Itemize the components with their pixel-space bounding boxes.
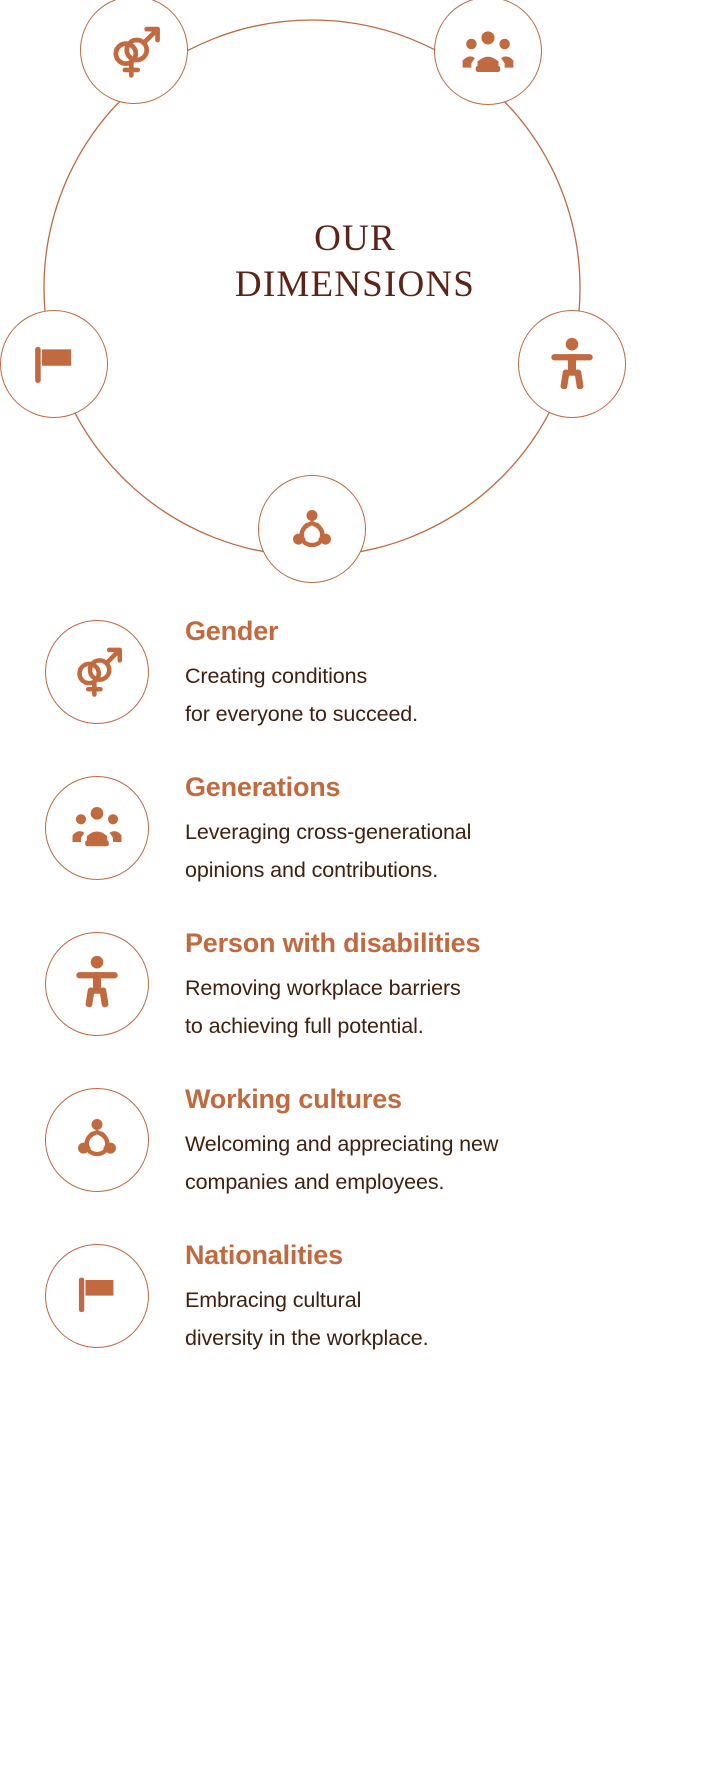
list-item-title: Person with disabilities: [185, 926, 480, 960]
list-item-icon-badge: [45, 932, 149, 1036]
flag-icon: [74, 1271, 120, 1322]
gender-icon: [105, 21, 163, 79]
working-cultures-icon: [70, 1111, 124, 1170]
title-line-2: DIMENSIONS: [0, 262, 710, 308]
list-item-description: Embracing cultural diversity in the work…: [185, 1281, 428, 1357]
flag-icon: [30, 340, 78, 388]
working-cultures-icon: [285, 502, 339, 556]
accessibility-icon: [74, 955, 120, 1014]
diagram-node-gender[interactable]: [80, 0, 188, 104]
list-item-icon-badge: [45, 1244, 149, 1348]
accessibility-icon: [548, 337, 596, 391]
list-item-text: Person with disabilities Removing workpl…: [185, 922, 480, 1045]
generations-icon: [460, 23, 516, 79]
list-item-description: Welcoming and appreciating new companies…: [185, 1125, 498, 1201]
list-item-description: Removing workplace barriers to achieving…: [185, 969, 480, 1045]
generations-icon: [70, 799, 124, 858]
list-item-title: Nationalities: [185, 1238, 428, 1272]
list-item-icon-badge: [45, 1088, 149, 1192]
list-item-text: Working cultures Welcoming and appreciat…: [185, 1078, 498, 1201]
list-item[interactable]: Working cultures Welcoming and appreciat…: [0, 1078, 710, 1201]
list-item-text: Generations Leveraging cross-generationa…: [185, 766, 471, 889]
diagram-node-disabilities[interactable]: [518, 310, 626, 418]
list-item-description: Leveraging cross-generational opinions a…: [185, 813, 471, 889]
list-item-icon-badge: [45, 776, 149, 880]
title-line-1: OUR: [0, 216, 710, 262]
list-item[interactable]: Generations Leveraging cross-generationa…: [0, 766, 710, 889]
list-item[interactable]: Nationalities Embracing cultural diversi…: [0, 1234, 710, 1357]
diagram-node-working-cultures[interactable]: [258, 475, 366, 583]
list-item-icon-badge: [45, 620, 149, 724]
diagram-node-generations[interactable]: [434, 0, 542, 105]
list-item-description: Creating conditions for everyone to succ…: [185, 657, 418, 733]
list-item[interactable]: Person with disabilities Removing workpl…: [0, 922, 710, 1045]
list-item-title: Working cultures: [185, 1082, 498, 1116]
list-item-text: Gender Creating conditions for everyone …: [185, 610, 418, 733]
list-item[interactable]: Gender Creating conditions for everyone …: [0, 610, 710, 733]
dimensions-list: Gender Creating conditions for everyone …: [0, 610, 710, 1357]
list-item-title: Generations: [185, 770, 471, 804]
diagram-center-title: OUR DIMENSIONS: [0, 216, 710, 308]
diagram-node-nationalities[interactable]: [0, 310, 108, 418]
list-item-text: Nationalities Embracing cultural diversi…: [185, 1234, 428, 1357]
list-item-title: Gender: [185, 614, 418, 648]
dimensions-diagram: OUR DIMENSIONS: [0, 0, 710, 610]
gender-icon: [69, 642, 125, 703]
